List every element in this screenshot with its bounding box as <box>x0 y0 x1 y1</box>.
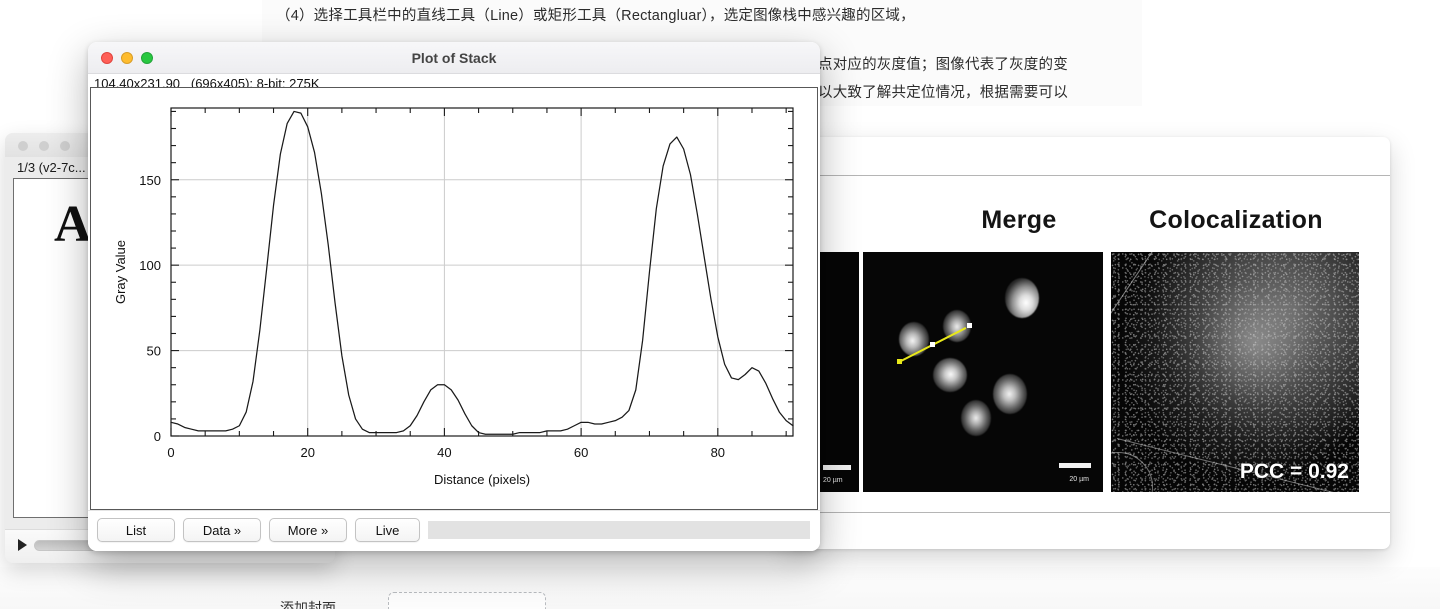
scalebar-merge-label: 20 µm <box>1069 476 1089 483</box>
doc-paragraph-top: （4）选择工具栏中的直线工具（Line）或矩形工具（Rectangluar），选… <box>276 4 915 25</box>
data-button[interactable]: Data » <box>183 518 261 542</box>
svg-text:80: 80 <box>711 445 725 460</box>
scalebar-merge <box>1059 463 1091 468</box>
montage-canvas: Merge Colocalization 20 µm <box>818 175 1390 513</box>
svg-text:Distance (pixels): Distance (pixels) <box>434 472 530 487</box>
more-button[interactable]: More » <box>269 518 347 542</box>
zoom-button[interactable] <box>60 141 70 151</box>
profile-plot: 050100150020406080Distance (pixels)Gray … <box>91 88 817 509</box>
cell-blob <box>899 322 929 356</box>
svg-text:60: 60 <box>574 445 588 460</box>
play-icon[interactable] <box>18 539 27 551</box>
roi-handle-end[interactable] <box>967 323 972 328</box>
svg-text:40: 40 <box>437 445 451 460</box>
roi-handle-start[interactable] <box>897 359 902 364</box>
plot-toolbar: List Data » More » Live <box>88 510 820 551</box>
minimize-button[interactable] <box>39 141 49 151</box>
svg-text:0: 0 <box>154 429 161 444</box>
cover-label: 添加封面 <box>280 598 336 609</box>
svg-text:0: 0 <box>167 445 174 460</box>
colocalization-panel-image[interactable]: PCC = 0.92 <box>1111 252 1359 492</box>
pcc-value-label: PCC = 0.92 <box>1240 460 1349 484</box>
close-button[interactable] <box>18 141 28 151</box>
page-bottom-band <box>0 567 1440 609</box>
live-button[interactable]: Live <box>355 518 420 542</box>
image-stack-info: 1/3 (v2-7c... <box>17 160 86 175</box>
window-title: Plot of Stack <box>88 50 820 66</box>
list-button[interactable]: List <box>97 518 175 542</box>
cell-blob <box>933 358 967 392</box>
cell-blob <box>961 400 991 436</box>
coordinate-readout <box>428 521 810 539</box>
speckle-texture <box>1111 252 1359 492</box>
plot-of-stack-window[interactable]: Plot of Stack 104.40x231.90 (696x405); 8… <box>88 42 820 551</box>
roi-handle-mid[interactable] <box>930 342 935 347</box>
svg-text:150: 150 <box>139 173 161 188</box>
doc-paragraph-right-1: 点对应的灰度值；图像代表了灰度的变 <box>818 53 1068 74</box>
hidden-left-panel-image: 20 µm <box>819 252 859 492</box>
doc-paragraph-right-2: 以大致了解共定位情况，根据需要可以 <box>818 81 1068 102</box>
panel-letter-a: A <box>54 195 92 254</box>
svg-text:Gray Value: Gray Value <box>113 240 128 304</box>
svg-text:20: 20 <box>300 445 314 460</box>
plot-canvas[interactable]: 050100150020406080Distance (pixels)Gray … <box>90 87 818 510</box>
montage-window[interactable]: Merge Colocalization 20 µm <box>788 137 1390 549</box>
scalebar-left <box>823 465 851 470</box>
cell-blob <box>993 374 1027 414</box>
svg-text:100: 100 <box>139 258 161 273</box>
cover-dropzone[interactable] <box>388 592 546 609</box>
merge-panel-image[interactable]: 20 µm <box>863 252 1103 492</box>
plot-titlebar[interactable]: Plot of Stack <box>88 42 820 74</box>
scalebar-left-label: 20 µm <box>823 477 843 484</box>
svg-text:50: 50 <box>147 344 161 359</box>
merge-panel-title: Merge <box>929 206 1109 235</box>
screen-root: （4）选择工具栏中的直线工具（Line）或矩形工具（Rectangluar），选… <box>0 0 1440 609</box>
cell-blob <box>1005 278 1039 318</box>
colocalization-panel-title: Colocalization <box>1107 206 1365 235</box>
